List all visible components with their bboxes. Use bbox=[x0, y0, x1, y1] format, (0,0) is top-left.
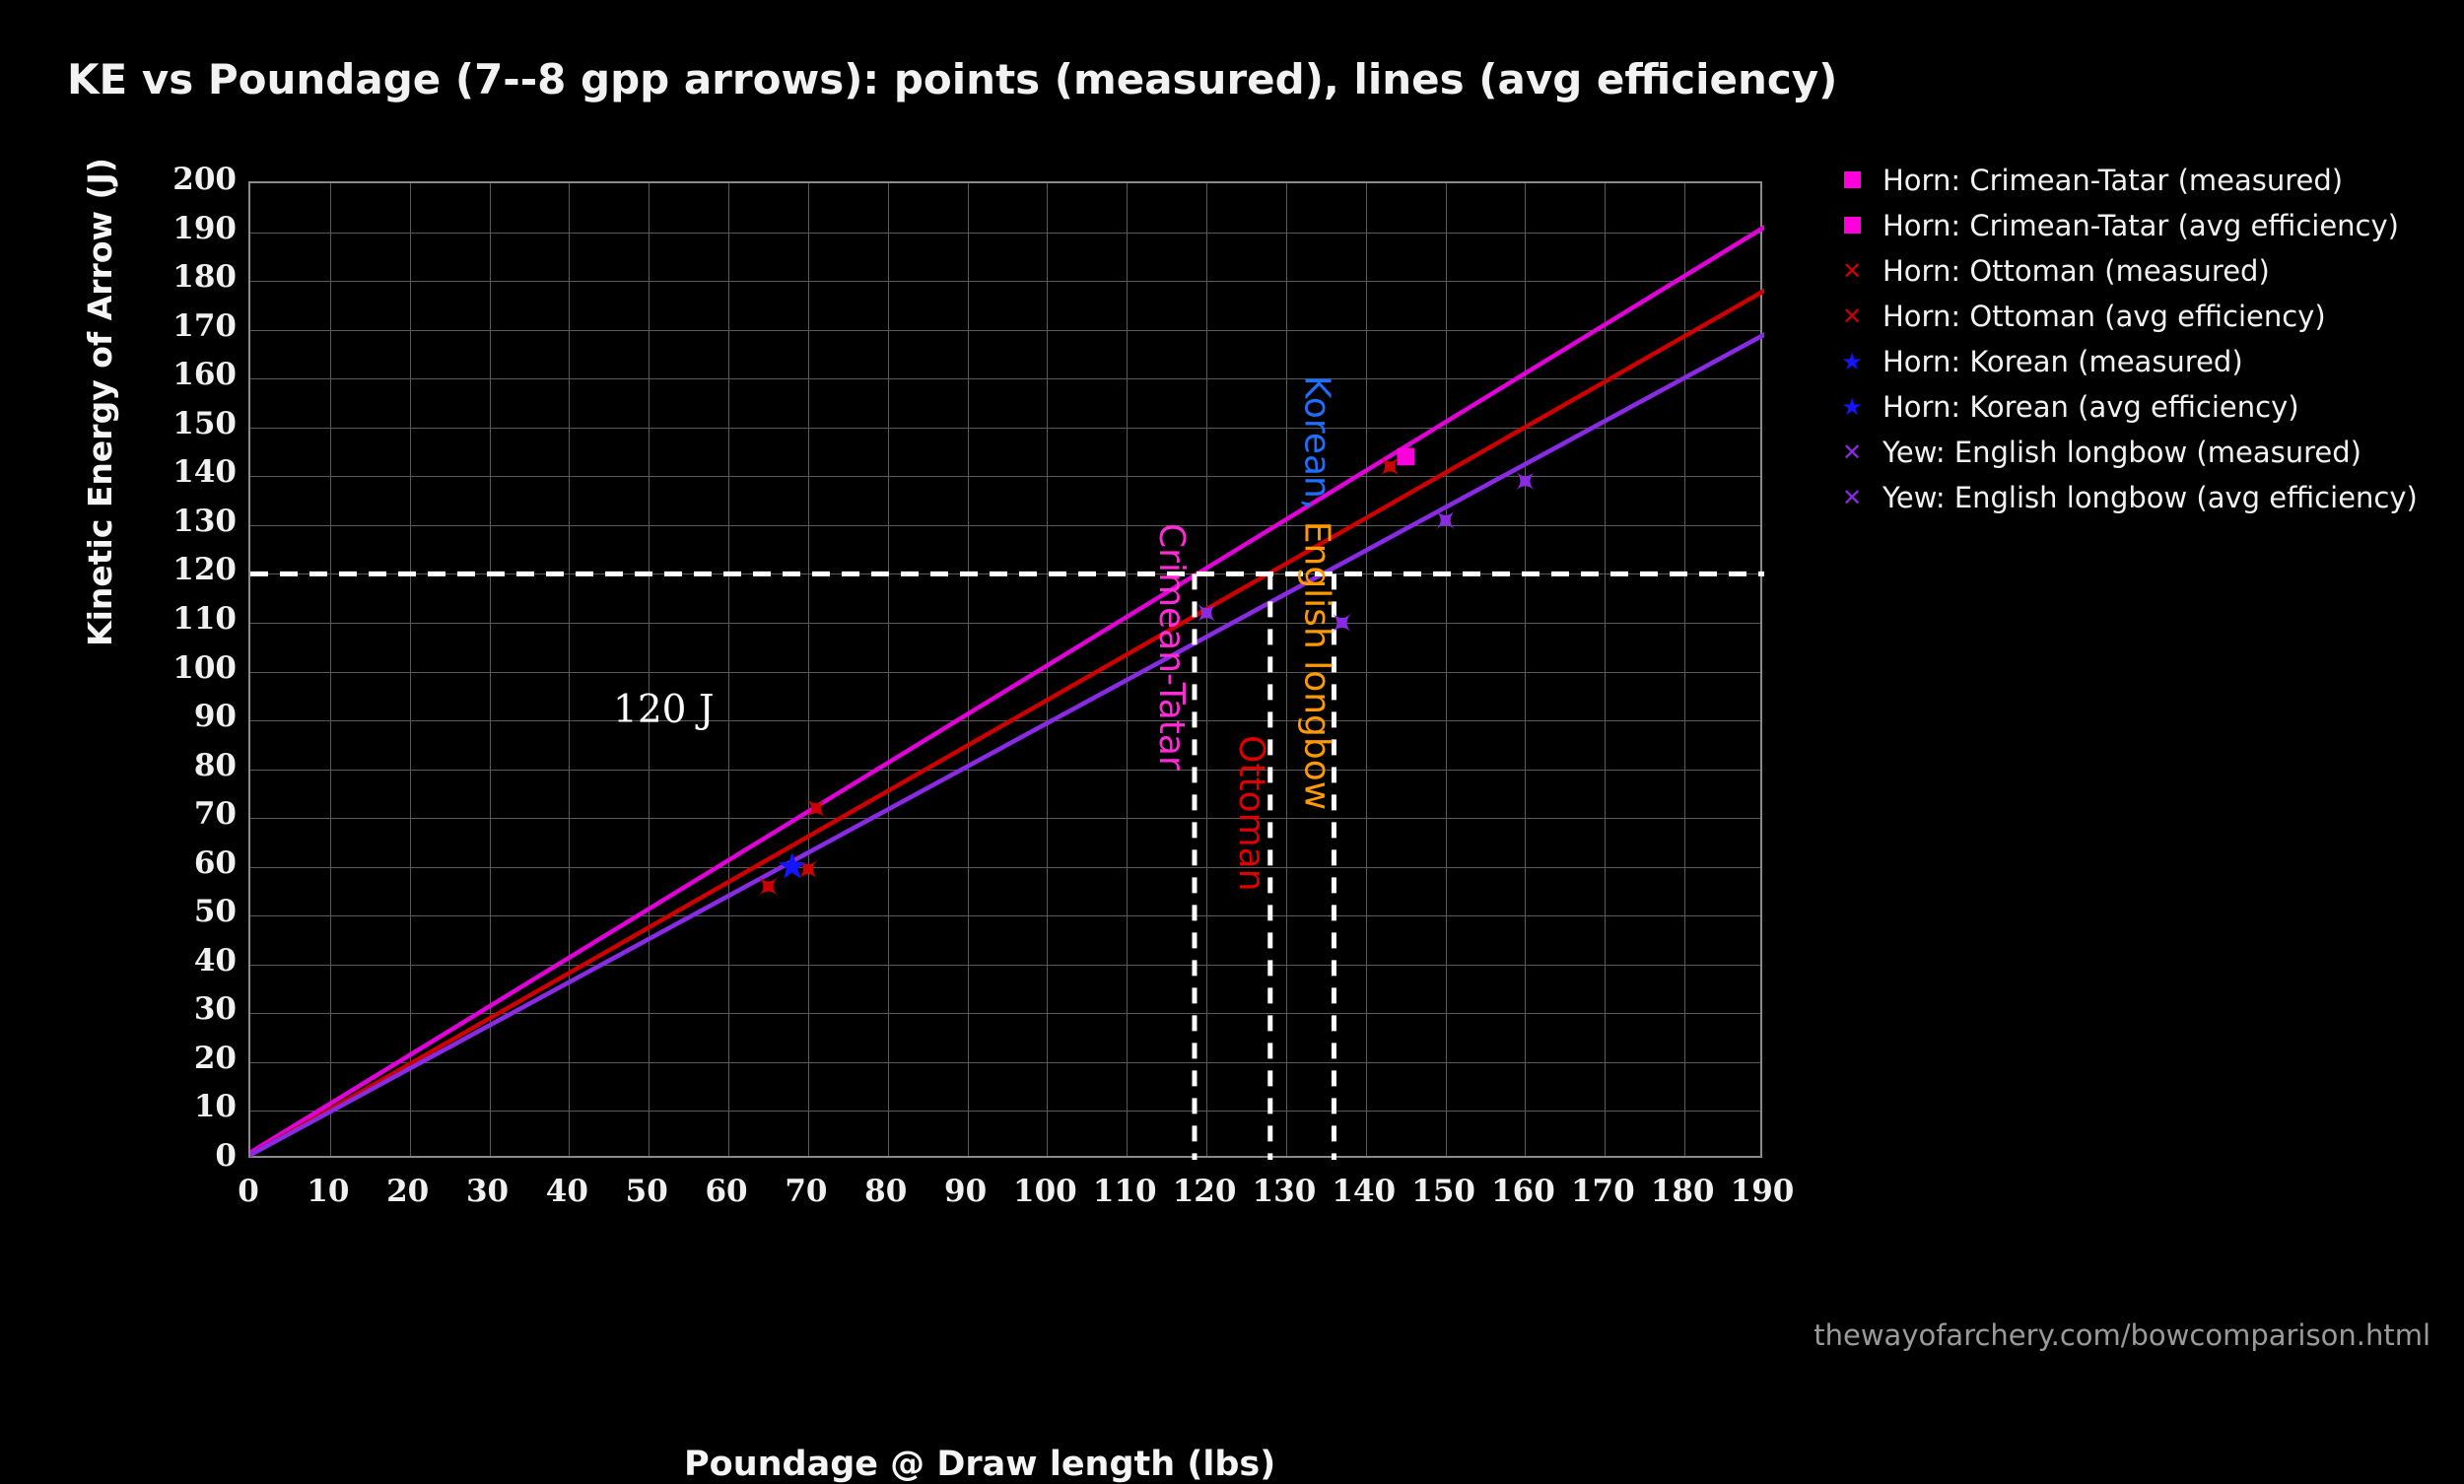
y-tick-label: 110 bbox=[108, 601, 237, 637]
legend: Horn: Crimean-Tatar (measured)Horn: Crim… bbox=[1835, 158, 2418, 520]
y-tick-label: 30 bbox=[108, 991, 237, 1027]
square-icon bbox=[1844, 217, 1861, 234]
legend-marker-x-icon: ✕ bbox=[1835, 440, 1869, 464]
y-tick-label: 130 bbox=[108, 504, 237, 539]
data-point bbox=[806, 798, 826, 818]
y-tick-label: 50 bbox=[108, 894, 237, 929]
y-tick-label: 70 bbox=[108, 796, 237, 832]
y-tick-label: 10 bbox=[108, 1089, 237, 1124]
legend-label: Horn: Crimean-Tatar (avg efficiency) bbox=[1882, 209, 2399, 242]
trend-line bbox=[250, 335, 1764, 1155]
chart-title: KE vs Poundage (7--8 gpp arrows): points… bbox=[67, 55, 1837, 103]
legend-marker-x-icon: ✕ bbox=[1835, 304, 1869, 328]
x-axis-label: Poundage @ Draw length (lbs) bbox=[684, 1445, 1275, 1484]
y-tick-label: 0 bbox=[108, 1138, 237, 1174]
square-icon bbox=[1844, 171, 1861, 188]
legend-marker-square-icon bbox=[1835, 213, 1869, 238]
label-part-korean: Korean bbox=[1296, 375, 1336, 499]
annotation-120j: 120 J bbox=[613, 688, 714, 732]
legend-marker-square-icon bbox=[1835, 168, 1869, 193]
legend-item[interactable]: ✕Yew: English longbow (measured) bbox=[1835, 430, 2418, 475]
reference-line-label: Korean, English longbow bbox=[1296, 375, 1336, 810]
y-tick-label: 90 bbox=[108, 699, 237, 734]
legend-item[interactable]: ✕Horn: Ottoman (measured) bbox=[1835, 248, 2418, 294]
y-tick-label: 20 bbox=[108, 1041, 237, 1076]
legend-label: Horn: Korean (measured) bbox=[1882, 345, 2243, 378]
legend-marker-star-icon: ★ bbox=[1835, 350, 1869, 373]
y-tick-label: 170 bbox=[108, 308, 237, 344]
y-tick-label: 180 bbox=[108, 259, 237, 295]
legend-label: Horn: Ottoman (avg efficiency) bbox=[1882, 300, 2326, 333]
reference-line-label: Ottoman bbox=[1231, 735, 1271, 892]
y-tick-label: 190 bbox=[108, 211, 237, 246]
reference-line-label: Crimean-Tatar bbox=[1151, 523, 1192, 771]
legend-label: Horn: Ottoman (measured) bbox=[1882, 254, 2270, 288]
legend-item[interactable]: Horn: Crimean-Tatar (measured) bbox=[1835, 158, 2418, 203]
legend-marker-x-icon: ✕ bbox=[1835, 486, 1869, 509]
legend-item[interactable]: ✕Yew: English longbow (avg efficiency) bbox=[1835, 475, 2418, 520]
y-tick-label: 100 bbox=[108, 650, 237, 686]
legend-item[interactable]: ★Horn: Korean (measured) bbox=[1835, 339, 2418, 384]
data-point bbox=[1380, 456, 1400, 476]
trend-line bbox=[250, 291, 1764, 1155]
y-tick-label: 150 bbox=[108, 406, 237, 441]
y-tick-label: 40 bbox=[108, 943, 237, 978]
data-point bbox=[1397, 448, 1414, 466]
legend-label: Yew: English longbow (avg efficiency) bbox=[1882, 481, 2418, 514]
y-tick-label: 60 bbox=[108, 845, 237, 881]
chart-canvas bbox=[250, 183, 1764, 1160]
legend-marker-star-icon: ★ bbox=[1835, 395, 1869, 419]
data-point bbox=[1515, 471, 1535, 491]
trend-line bbox=[250, 228, 1764, 1153]
label-part-separator: , bbox=[1296, 499, 1336, 521]
y-tick-label: 200 bbox=[108, 162, 237, 197]
y-tick-label: 120 bbox=[108, 552, 237, 587]
legend-item[interactable]: ★Horn: Korean (avg efficiency) bbox=[1835, 384, 2418, 430]
y-tick-label: 160 bbox=[108, 357, 237, 392]
legend-label: Yew: English longbow (measured) bbox=[1882, 436, 2361, 469]
plot-area: 120 J Kinetic Energy of Arrow (J) Pounda… bbox=[248, 181, 1762, 1158]
legend-marker-x-icon: ✕ bbox=[1835, 259, 1869, 283]
legend-label: Horn: Crimean-Tatar (measured) bbox=[1882, 164, 2343, 197]
label-part-english-longbow: English longbow bbox=[1296, 521, 1336, 810]
x-tick-label: 190 bbox=[1703, 1174, 1821, 1209]
y-tick-label: 80 bbox=[108, 748, 237, 783]
data-point bbox=[758, 877, 778, 897]
legend-item[interactable]: ✕Horn: Ottoman (avg efficiency) bbox=[1835, 294, 2418, 339]
y-tick-label: 140 bbox=[108, 454, 237, 490]
data-point bbox=[1436, 510, 1456, 530]
legend-label: Horn: Korean (avg efficiency) bbox=[1882, 390, 2299, 424]
legend-item[interactable]: Horn: Crimean-Tatar (avg efficiency) bbox=[1835, 203, 2418, 248]
source-footer: thewayofarchery.com/bowcomparison.html bbox=[1814, 1318, 2430, 1352]
